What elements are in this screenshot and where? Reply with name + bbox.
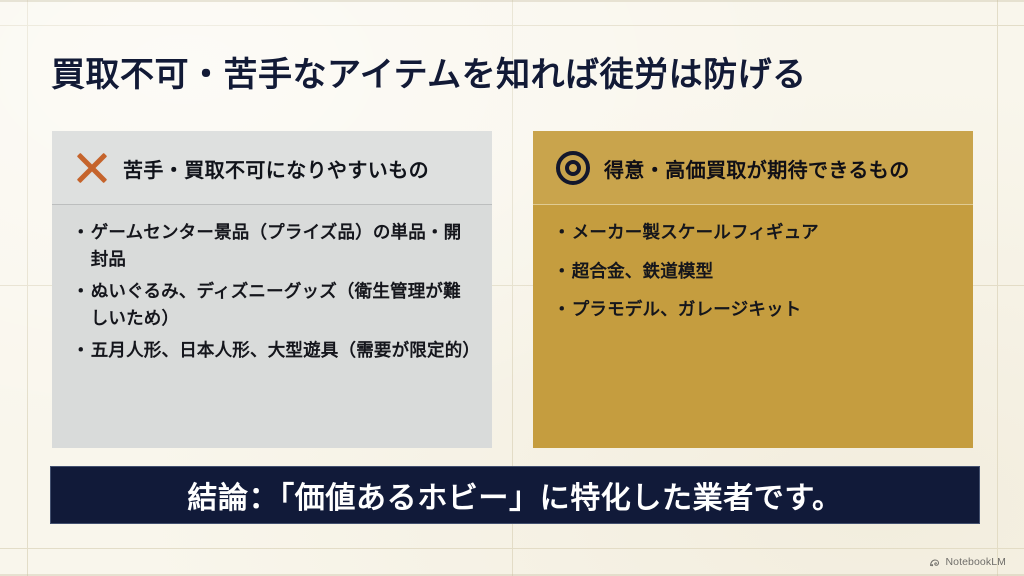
list-item-text: 五月人形、日本人形、大型遊具（需要が限定的） bbox=[91, 337, 474, 364]
card-strong-items: 得意・高価買取が期待できるもの ・ メーカー製スケールフィギュア ・ 超合金、鉄… bbox=[533, 131, 973, 448]
page-title: 買取不可・苦手なアイテムを知れば徒労は防げる bbox=[51, 47, 807, 96]
double-circle-icon bbox=[554, 149, 592, 187]
notebooklm-logo-icon bbox=[929, 556, 941, 568]
list-item: ・ メーカー製スケールフィギュア bbox=[553, 219, 955, 246]
card-strong-items-header: 得意・高価買取が期待できるもの bbox=[533, 131, 973, 205]
card-strong-items-body: ・ メーカー製スケールフィギュア ・ 超合金、鉄道模型 ・ プラモデル、ガレージ… bbox=[533, 205, 973, 323]
list-item: ・ ぬいぐるみ、ディズニーグッズ（衛生管理が難しいため） bbox=[72, 278, 474, 331]
slide-canvas: 買取不可・苦手なアイテムを知れば徒労は防げる 苦手・買取不可になりやすいもの ・… bbox=[0, 0, 1024, 576]
list-item: ・ ゲームセンター景品（プライズ品）の単品・開封品 bbox=[72, 219, 474, 272]
bullet-marker: ・ bbox=[72, 337, 90, 364]
card-weak-items-header: 苦手・買取不可になりやすいもの bbox=[52, 131, 492, 205]
list-item-text: プラモデル、ガレージキット bbox=[572, 296, 955, 323]
list-item: ・ プラモデル、ガレージキット bbox=[553, 296, 955, 323]
bullet-marker: ・ bbox=[72, 278, 90, 305]
conclusion-banner-text: 結論：「価値あるホビー」に特化した業者です。 bbox=[187, 473, 842, 517]
bullet-marker: ・ bbox=[553, 296, 571, 323]
list-item-text: メーカー製スケールフィギュア bbox=[572, 219, 955, 246]
bullet-marker: ・ bbox=[553, 219, 571, 246]
list-item: ・ 超合金、鉄道模型 bbox=[553, 258, 955, 285]
bullet-marker: ・ bbox=[553, 258, 571, 285]
card-weak-items-body: ・ ゲームセンター景品（プライズ品）の単品・開封品 ・ ぬいぐるみ、ディズニーグ… bbox=[52, 205, 492, 364]
bullet-marker: ・ bbox=[72, 219, 90, 246]
conclusion-banner: 結論：「価値あるホビー」に特化した業者です。 bbox=[50, 466, 980, 524]
list-item-text: ゲームセンター景品（プライズ品）の単品・開封品 bbox=[91, 219, 474, 272]
card-strong-items-title: 得意・高価買取が期待できるもの bbox=[604, 154, 910, 183]
list-item-text: 超合金、鉄道模型 bbox=[572, 258, 955, 285]
card-weak-items: 苦手・買取不可になりやすいもの ・ ゲームセンター景品（プライズ品）の単品・開封… bbox=[52, 131, 492, 448]
notebooklm-watermark-label: NotebookLM bbox=[945, 556, 1006, 568]
list-item-text: ぬいぐるみ、ディズニーグッズ（衛生管理が難しいため） bbox=[91, 278, 474, 331]
notebooklm-watermark: NotebookLM bbox=[929, 556, 1006, 568]
slide-content: 買取不可・苦手なアイテムを知れば徒労は防げる 苦手・買取不可になりやすいもの ・… bbox=[0, 0, 1024, 576]
list-item: ・ 五月人形、日本人形、大型遊具（需要が限定的） bbox=[72, 337, 474, 364]
card-weak-items-title: 苦手・買取不可になりやすいもの bbox=[123, 154, 429, 183]
cross-mark-icon bbox=[73, 149, 111, 187]
